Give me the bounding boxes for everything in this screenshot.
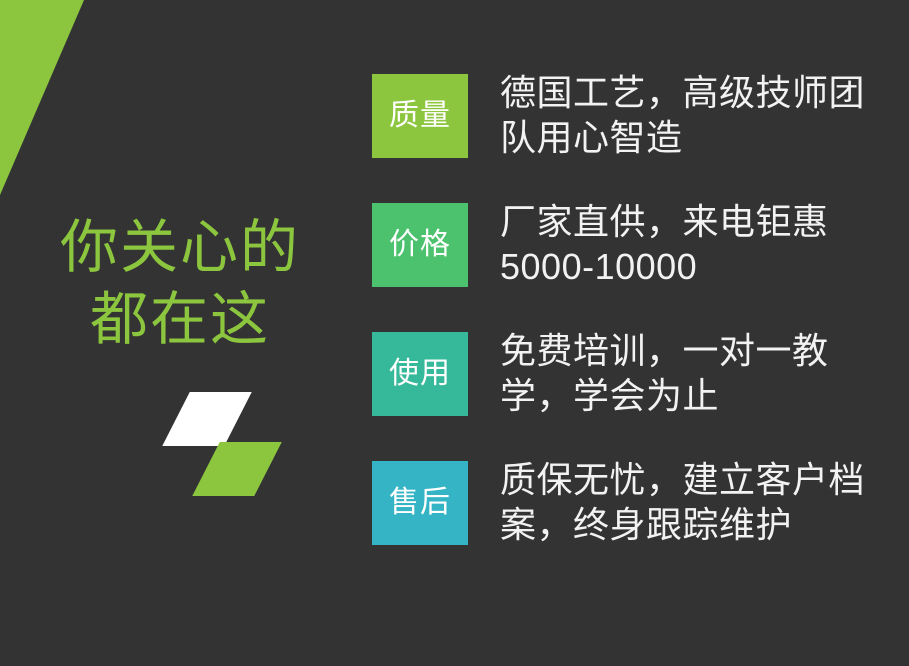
page-title-line-1: 你关心的 xyxy=(0,212,360,284)
status-badge: 售后 xyxy=(372,461,468,545)
list-item-description: 厂家直供，来电钜惠 5000-10000 xyxy=(500,199,900,289)
list-item: 使用 免费培训，一对一教学，学会为止 xyxy=(372,332,909,461)
list-item: 价格 厂家直供，来电钜惠 5000-10000 xyxy=(372,203,909,332)
list-item-description: 免费培训，一对一教学，学会为止 xyxy=(500,328,900,418)
status-badge: 价格 xyxy=(372,203,468,287)
status-badge: 使用 xyxy=(372,332,468,416)
page-title-line-2: 都在这 xyxy=(0,284,360,356)
status-badge: 质量 xyxy=(372,74,468,158)
parallelogram-logo-icon xyxy=(172,392,292,496)
page-title: 你关心的 都在这 xyxy=(0,212,360,356)
list-item: 质量 德国工艺，高级技师团队用心智造 xyxy=(372,74,909,203)
list-item-description: 德国工艺，高级技师团队用心智造 xyxy=(500,70,900,160)
list-item-description: 质保无忧，建立客户档案，终身跟踪维护 xyxy=(500,457,900,547)
feature-list: 质量 德国工艺，高级技师团队用心智造 价格 厂家直供，来电钜惠 5000-100… xyxy=(372,74,909,590)
left-column: 你关心的 都在这 xyxy=(0,0,360,666)
logo-slab-white xyxy=(162,392,252,446)
logo-slab-green xyxy=(192,442,282,496)
slide-canvas: 你关心的 都在这 质量 德国工艺，高级技师团队用心智造 价格 厂家直供，来电钜惠… xyxy=(0,0,909,666)
list-item: 售后 质保无忧，建立客户档案，终身跟踪维护 xyxy=(372,461,909,590)
